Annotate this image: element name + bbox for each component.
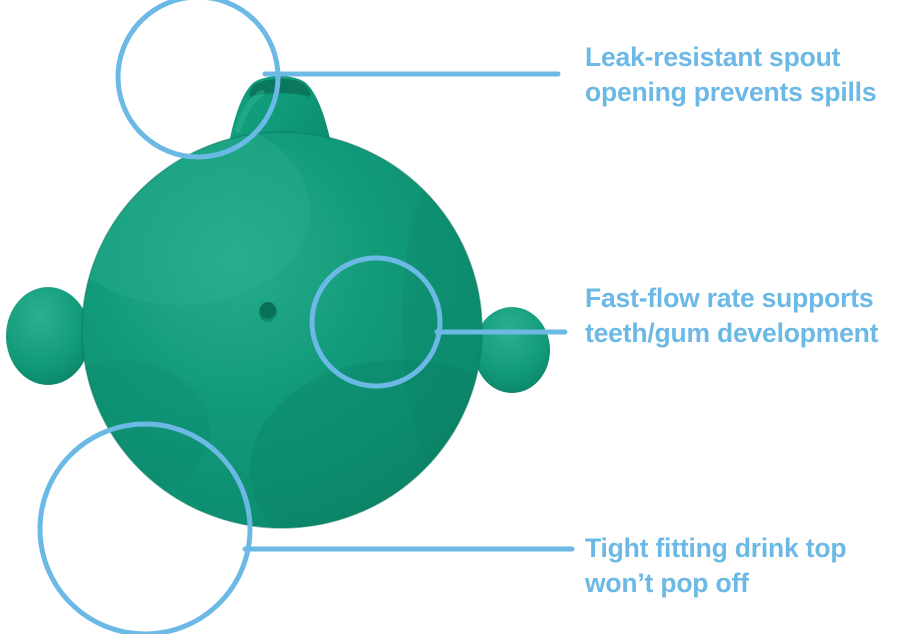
callout-circle-leak-resistant-spout [118, 0, 278, 157]
dome-body [30, 115, 550, 580]
callout-label-fast-flow-rate: Fast-flow rate supports teeth/gum develo… [585, 281, 878, 351]
product-feature-infographic: Leak-resistant spout opening prevents sp… [0, 0, 910, 634]
callout-label-tight-fitting-drink-top: Tight fitting drink top won’t pop off [585, 531, 846, 601]
left-tab [6, 287, 90, 385]
callout-label-leak-resistant-spout: Leak-resistant spout opening prevents sp… [585, 40, 876, 110]
right-tab [474, 307, 550, 393]
vent-hole [259, 302, 277, 322]
